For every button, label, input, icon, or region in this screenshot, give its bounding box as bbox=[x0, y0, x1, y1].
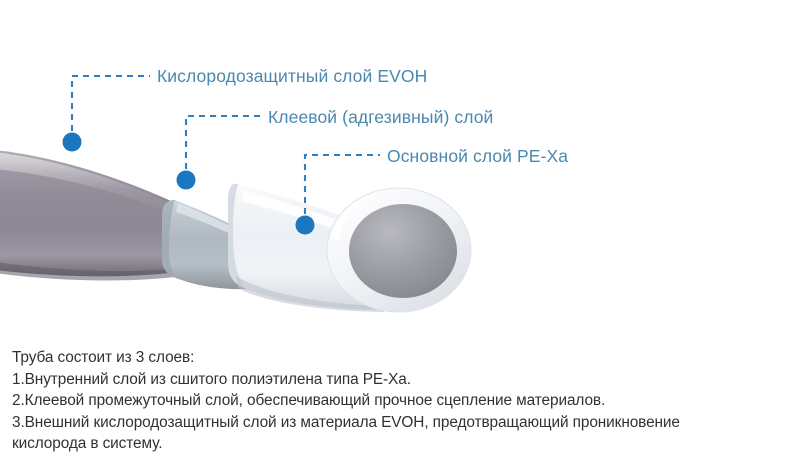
pipe-illustration bbox=[0, 0, 809, 340]
callout-label-evoh: Кислородозащитный слой EVOH bbox=[157, 68, 427, 86]
pipe-diagram: Кислородозащитный слой EVOH Клеевой (адг… bbox=[0, 0, 809, 340]
callout-label-adhesive: Клеевой (адгезивный) слой bbox=[268, 109, 493, 127]
callout-label-pexa: Основной слой PE-Xa bbox=[387, 148, 568, 166]
pipe-end-face bbox=[327, 188, 471, 312]
description-item-3-continued: кислорода в систему. bbox=[12, 433, 799, 455]
description-heading: Труба состоит из 3 слоев: bbox=[12, 347, 799, 369]
description-item-3: 3.Внешний кислородозащитный слой из мате… bbox=[12, 412, 799, 434]
description-block: Труба состоит из 3 слоев: 1.Внутренний с… bbox=[0, 340, 809, 463]
description-item-2: 2.Клеевой промежуточный слой, обеспечива… bbox=[12, 390, 799, 412]
description-item-1: 1.Внутренний слой из сшитого полиэтилена… bbox=[12, 369, 799, 391]
